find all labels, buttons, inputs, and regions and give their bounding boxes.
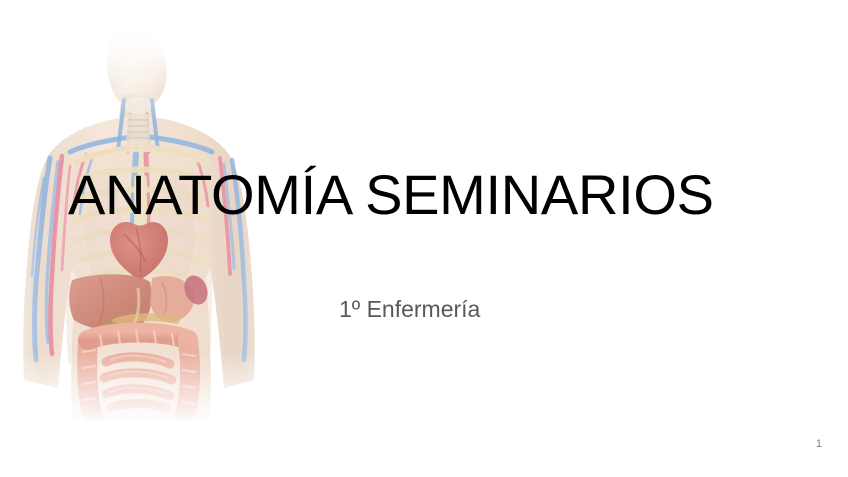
larynx-trachea-group	[125, 97, 151, 146]
slide-subtitle: 1º Enfermería	[339, 295, 480, 323]
slide-title: ANATOMÍA SEMINARIOS	[68, 166, 798, 224]
presentation-slide: ANATOMÍA SEMINARIOS 1º Enfermería 1	[0, 0, 848, 477]
page-number: 1	[816, 438, 822, 450]
